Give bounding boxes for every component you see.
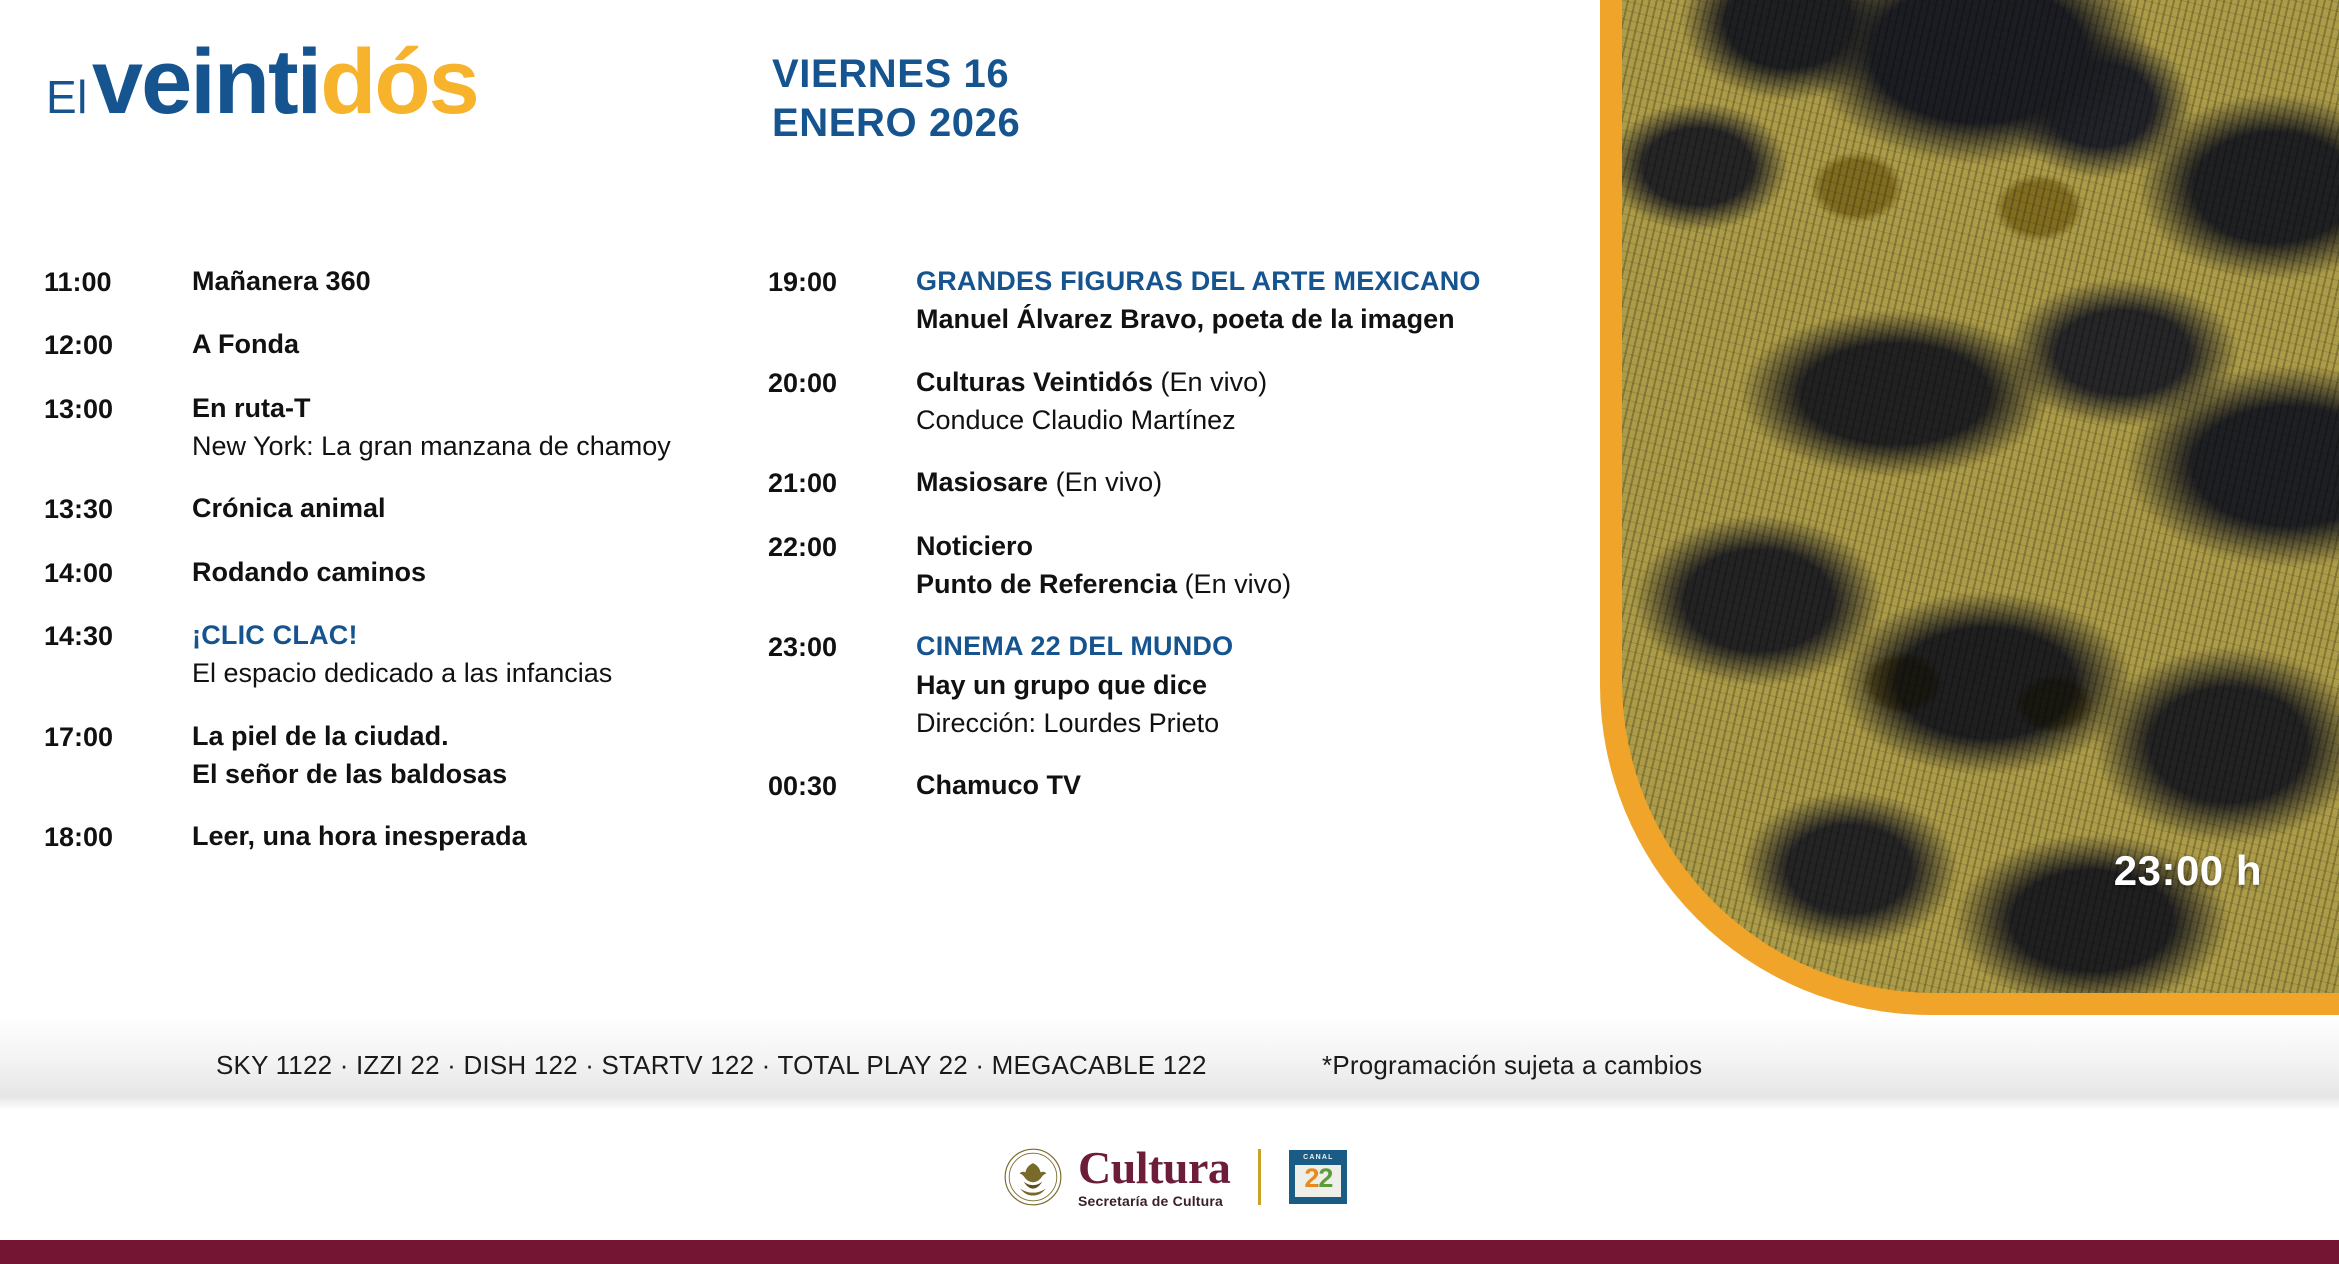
schedule-slot: 00:30Chamuco TV <box>768 766 1578 805</box>
cultura-title: Cultura <box>1078 1145 1230 1191</box>
slot-line: Rodando caminos <box>192 553 744 591</box>
slot-line: Conduce Claudio Martínez <box>916 401 1578 439</box>
schedule-slot: 22:00NoticieroPunto de Referencia (En vi… <box>768 527 1578 604</box>
slot-line: Mañanera 360 <box>192 262 744 300</box>
slot-body: Leer, una hora inesperada <box>192 817 744 855</box>
slot-line: El señor de las baldosas <box>192 755 744 793</box>
slot-body: Mañanera 360 <box>192 262 744 300</box>
slot-time: 21:00 <box>768 463 916 502</box>
slot-line: Manuel Álvarez Bravo, poeta de la imagen <box>916 300 1578 338</box>
live-tag: (En vivo) <box>1177 569 1291 599</box>
slot-line: Chamuco TV <box>916 766 1578 804</box>
slot-time: 19:00 <box>768 262 916 301</box>
slot-line: Crónica animal <box>192 489 744 527</box>
slot-time: 11:00 <box>44 262 192 301</box>
slot-line: New York: La gran manzana de chamoy <box>192 427 744 465</box>
slot-line: Culturas Veintidós (En vivo) <box>916 363 1578 401</box>
canal-label: CANAL <box>1303 1154 1334 1161</box>
canal-number: 22 <box>1300 1163 1336 1194</box>
schedule-slot: 20:00Culturas Veintidós (En vivo)Conduce… <box>768 363 1578 440</box>
slot-line: CINEMA 22 DEL MUNDO <box>916 627 1578 665</box>
government-logo: Cultura Secretaría de Cultura CANAL 22 <box>1004 1145 1347 1208</box>
slot-line: GRANDES FIGURAS DEL ARTE MEXICANO <box>916 262 1578 300</box>
logo-word-blue: veinti <box>92 31 320 133</box>
slot-body: ¡CLIC CLAC!El espacio dedicado a las inf… <box>192 616 744 693</box>
slot-body: Chamuco TV <box>916 766 1578 804</box>
schedule-slot: 21:00Masiosare (En vivo) <box>768 463 1578 502</box>
schedule-slot: 14:00Rodando caminos <box>44 553 744 592</box>
logo-divider <box>1258 1149 1261 1205</box>
live-tag: (En vivo) <box>1048 467 1162 497</box>
feature-artwork-panel: 23:00 h <box>1600 0 2339 1015</box>
date-month-year: ENERO 2026 <box>772 99 1020 148</box>
cultura-subtitle: Secretaría de Cultura <box>1078 1194 1230 1208</box>
schedule-disclaimer: *Programación sujeta a cambios <box>1322 1050 1702 1081</box>
date-day: VIERNES 16 <box>772 50 1020 99</box>
slot-line: Leer, una hora inesperada <box>192 817 744 855</box>
bottom-accent-bar <box>0 1240 2339 1264</box>
slot-line: A Fonda <box>192 325 744 363</box>
slot-line: Hay un grupo que dice <box>916 666 1578 704</box>
schedule-slot: 14:30¡CLIC CLAC!El espacio dedicado a la… <box>44 616 744 693</box>
slot-body: CINEMA 22 DEL MUNDOHay un grupo que dice… <box>916 627 1578 742</box>
slot-time: 13:00 <box>44 389 192 428</box>
artwork-time-badge: 23:00 h <box>2114 847 2262 895</box>
cultura-wordmark: Cultura Secretaría de Cultura <box>1078 1145 1230 1208</box>
slot-body: Masiosare (En vivo) <box>916 463 1578 501</box>
slot-time: 23:00 <box>768 627 916 666</box>
slot-line: Noticiero <box>916 527 1578 565</box>
broadcast-date: VIERNES 16 ENERO 2026 <box>772 50 1020 148</box>
slot-time: 13:30 <box>44 489 192 528</box>
canal-22-logo: CANAL 22 <box>1289 1150 1347 1204</box>
slot-time: 00:30 <box>768 766 916 805</box>
slot-time: 18:00 <box>44 817 192 856</box>
program-schedule-page: El veintidós VIERNES 16 ENERO 2026 11:00… <box>0 0 2339 1264</box>
slot-line: ¡CLIC CLAC! <box>192 616 744 654</box>
slot-time: 12:00 <box>44 325 192 364</box>
channel-list: SKY 1122 · IZZI 22 · DISH 122 · STARTV 1… <box>216 1050 1207 1081</box>
slot-body: GRANDES FIGURAS DEL ARTE MEXICANOManuel … <box>916 262 1578 339</box>
schedule-slot: 11:00Mañanera 360 <box>44 262 744 301</box>
schedule-slot: 17:00La piel de la ciudad.El señor de la… <box>44 717 744 794</box>
mexican-eagle-seal-icon <box>1004 1148 1062 1206</box>
slot-body: Crónica animal <box>192 489 744 527</box>
slot-time: 22:00 <box>768 527 916 566</box>
slot-time: 20:00 <box>768 363 916 402</box>
logo-word-amber: dós <box>320 31 478 133</box>
schedule-slot: 12:00A Fonda <box>44 325 744 364</box>
slot-line: Dirección: Lourdes Prieto <box>916 704 1578 742</box>
schedule-slot: 13:30Crónica animal <box>44 489 744 528</box>
schedule-slot: 18:00Leer, una hora inesperada <box>44 817 744 856</box>
slot-time: 14:30 <box>44 616 192 655</box>
feature-artwork-image <box>1622 0 2339 993</box>
schedule-slot: 23:00CINEMA 22 DEL MUNDOHay un grupo que… <box>768 627 1578 742</box>
slot-body: La piel de la ciudad.El señor de las bal… <box>192 717 744 794</box>
slot-line: En ruta-T <box>192 389 744 427</box>
logo-prefix: El <box>46 74 88 120</box>
brand-logo: El veintidós <box>46 36 478 128</box>
live-tag: (En vivo) <box>1153 367 1267 397</box>
schedule-slot: 19:00GRANDES FIGURAS DEL ARTE MEXICANOMa… <box>768 262 1578 339</box>
slot-body: Rodando caminos <box>192 553 744 591</box>
slot-time: 17:00 <box>44 717 192 756</box>
slot-body: NoticieroPunto de Referencia (En vivo) <box>916 527 1578 604</box>
slot-line: Punto de Referencia (En vivo) <box>916 565 1578 603</box>
slot-time: 14:00 <box>44 553 192 592</box>
slot-body: A Fonda <box>192 325 744 363</box>
slot-body: Culturas Veintidós (En vivo)Conduce Clau… <box>916 363 1578 440</box>
slot-line: Masiosare (En vivo) <box>916 463 1578 501</box>
slot-line: La piel de la ciudad. <box>192 717 744 755</box>
schedule-slot: 13:00En ruta-TNew York: La gran manzana … <box>44 389 744 466</box>
schedule-column-morning: 11:00Mañanera 36012:00A Fonda13:00En rut… <box>44 262 744 881</box>
schedule-column-evening: 19:00GRANDES FIGURAS DEL ARTE MEXICANOMa… <box>768 262 1578 830</box>
slot-line: El espacio dedicado a las infancias <box>192 654 744 692</box>
slot-body: En ruta-TNew York: La gran manzana de ch… <box>192 389 744 466</box>
